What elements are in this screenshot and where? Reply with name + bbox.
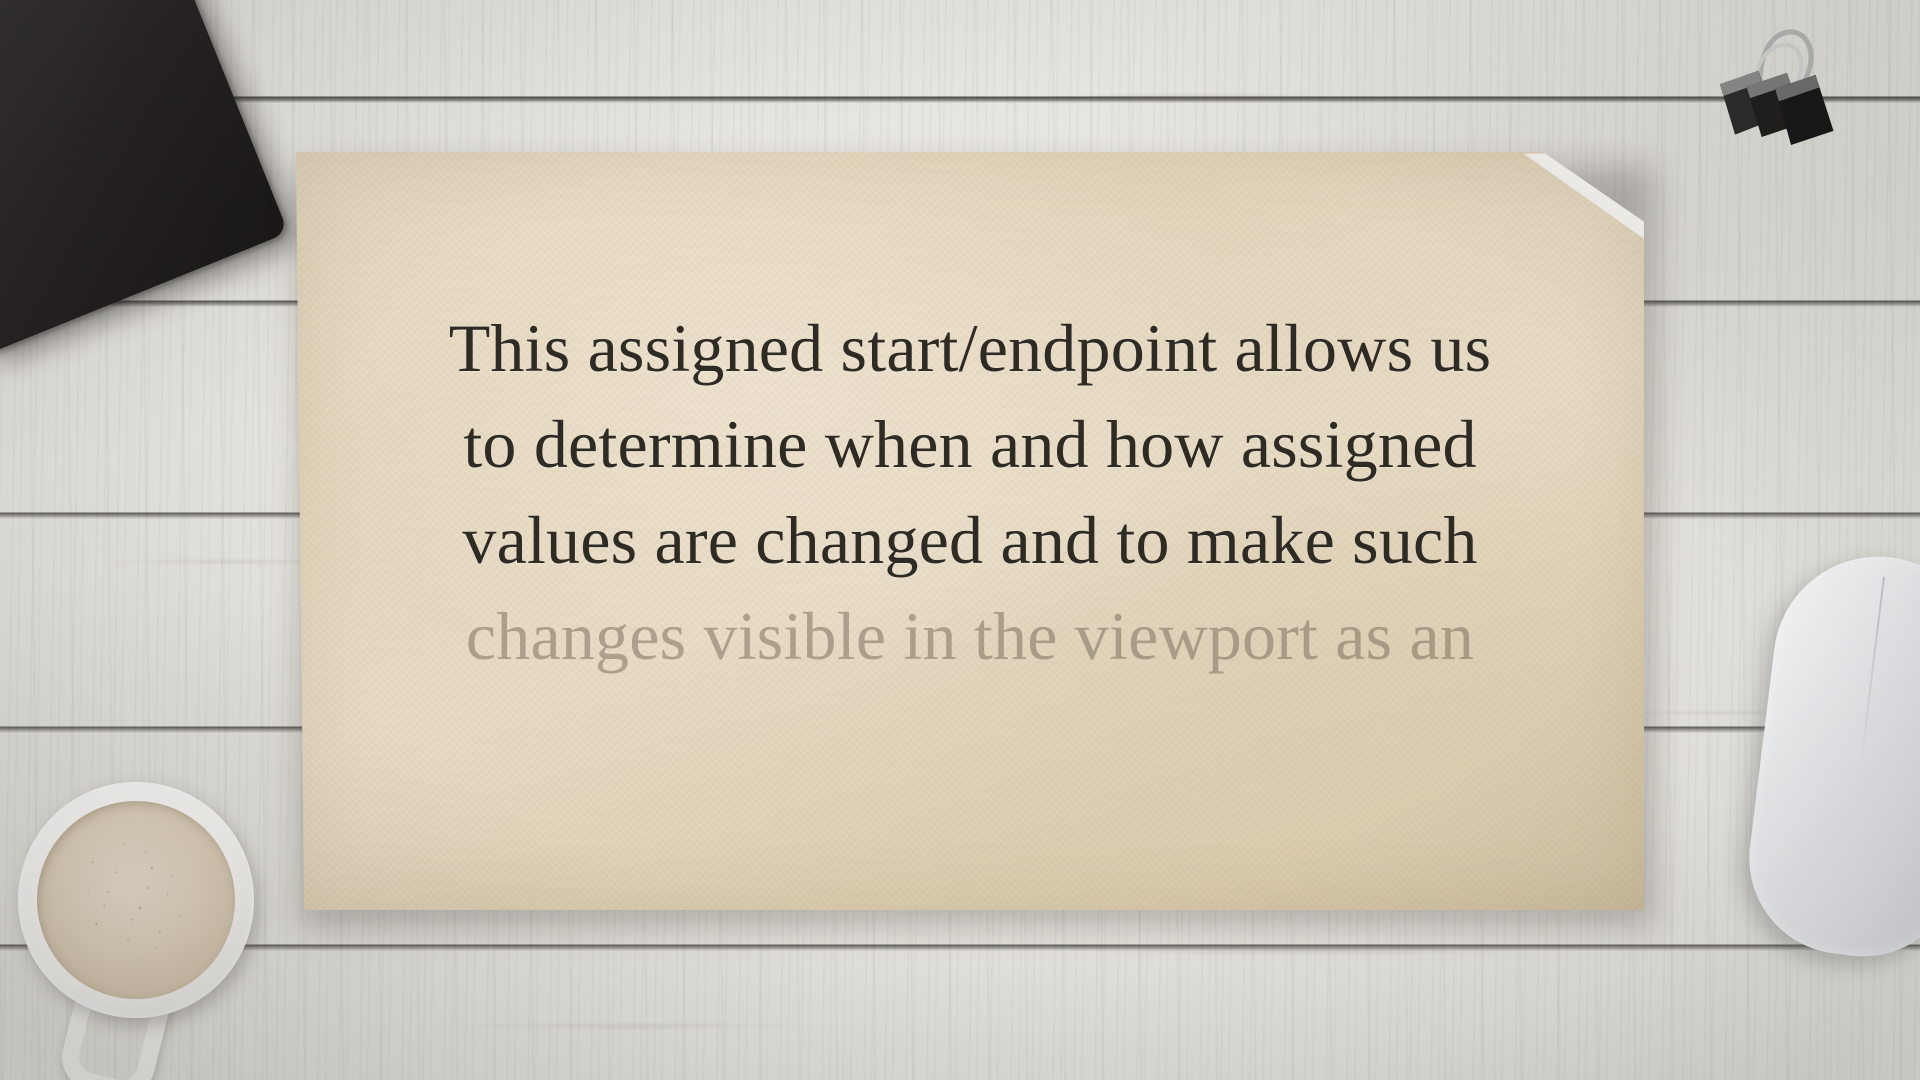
foam-bubbles	[37, 801, 235, 999]
scene-root: This assigned start/endpoint allows us t…	[0, 0, 1920, 1080]
kraft-paper-sheet	[296, 152, 1644, 910]
binder-clip	[1690, 10, 1869, 181]
coffee-cup	[18, 782, 254, 1018]
latte-foam	[37, 801, 235, 999]
binder-clip-icon	[1690, 10, 1869, 181]
cup-body	[18, 782, 254, 1018]
paper-texture	[296, 152, 1644, 910]
